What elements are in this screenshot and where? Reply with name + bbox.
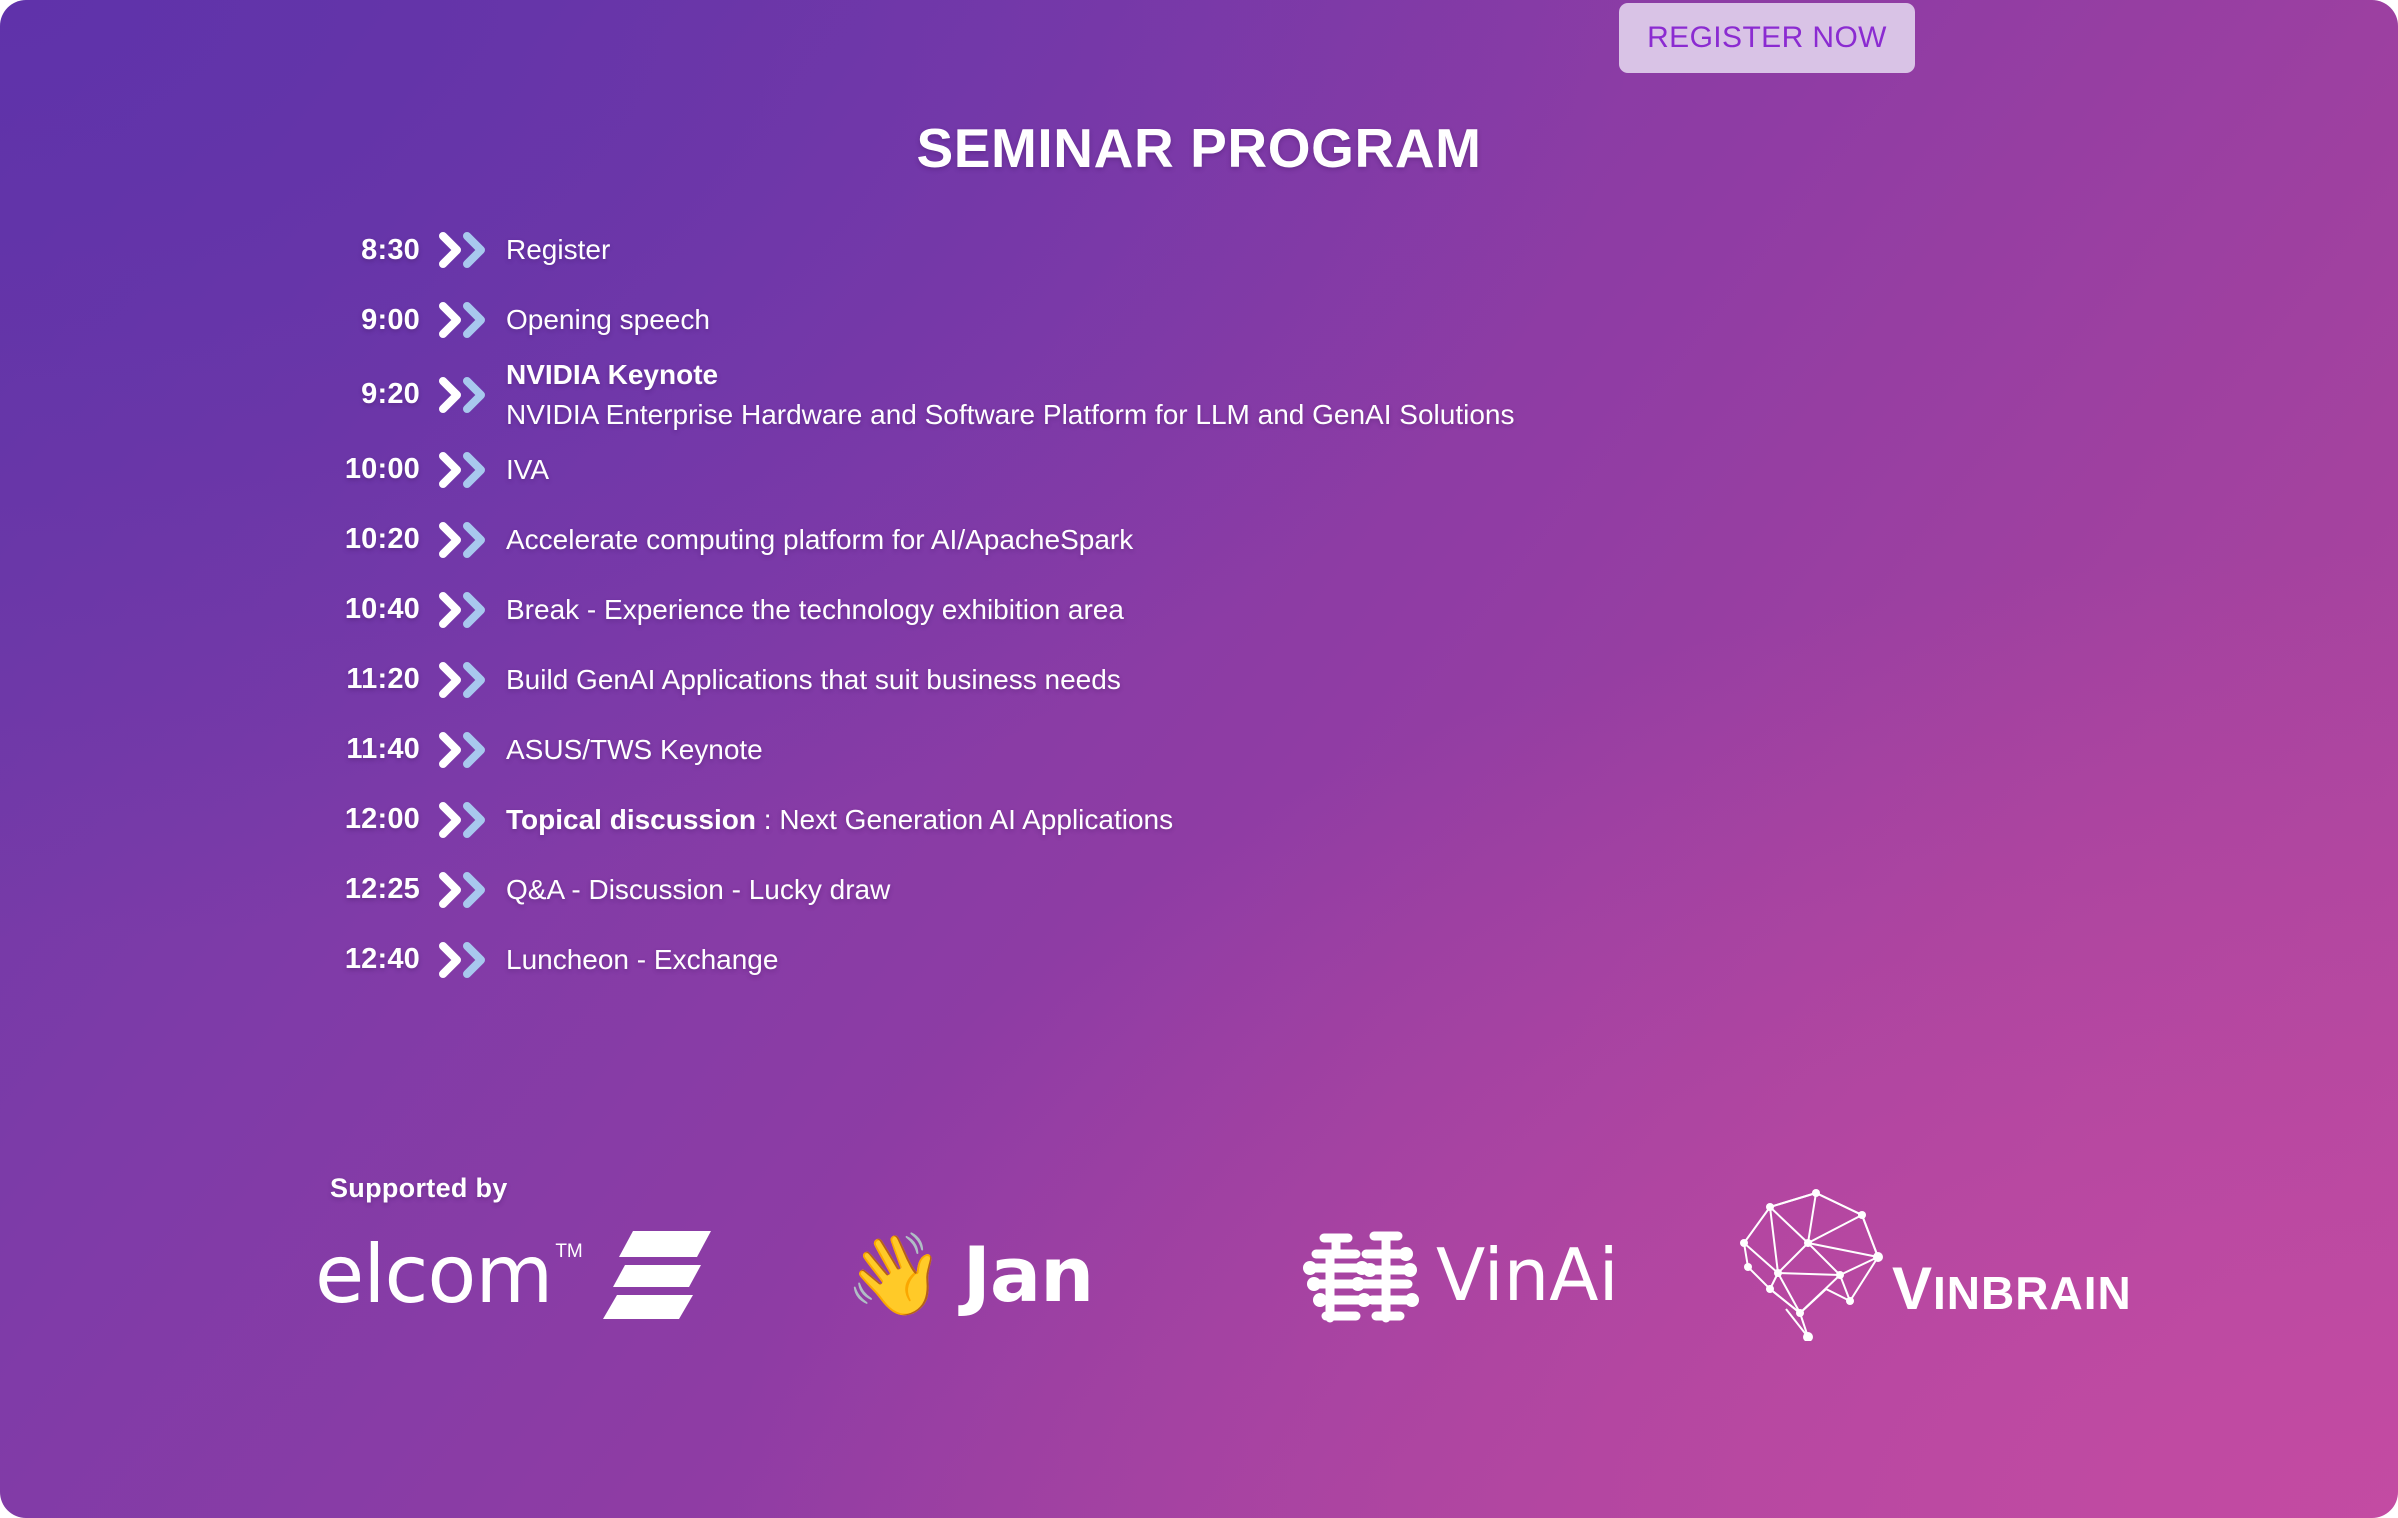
agenda-row-time: 8:30 <box>330 234 420 267</box>
double-chevron-right-icon <box>420 871 506 909</box>
double-chevron-right-icon <box>420 661 506 699</box>
double-chevron-right-icon <box>420 941 506 979</box>
double-chevron-right-icon <box>420 591 506 629</box>
agenda-row-label: IVA <box>506 454 549 485</box>
agenda-row-label: Opening speech <box>506 304 710 335</box>
double-chevron-right-icon <box>420 451 506 489</box>
trademark-icon: TM <box>555 1241 582 1263</box>
agenda-row-body: IVA <box>506 450 2030 490</box>
sponsor-logo-elcom: elcom TM <box>315 1205 715 1345</box>
agenda-row-subtitle: NVIDIA Enterprise Hardware and Software … <box>506 395 2030 435</box>
agenda-row-label: Register <box>506 234 610 265</box>
agenda-row-label: Break - Experience the technology exhibi… <box>506 594 1124 625</box>
agenda-row-body: Register <box>506 230 2030 270</box>
agenda-row-time: 12:00 <box>330 803 420 836</box>
agenda-row: 11:20Build GenAI Applications that suit … <box>330 645 2030 715</box>
agenda-row-time: 10:00 <box>330 453 420 486</box>
agenda-row-body: Break - Experience the technology exhibi… <box>506 590 2030 630</box>
agenda-row-time: 9:00 <box>330 304 420 337</box>
agenda-row: 10:00IVA <box>330 435 2030 505</box>
agenda-row-body: Topical discussion : Next Generation AI … <box>506 800 2030 840</box>
agenda-row-time: 11:20 <box>330 663 420 696</box>
double-chevron-right-icon <box>420 376 506 414</box>
sponsor-logo-jan: 👋 Jan <box>845 1205 1093 1345</box>
agenda-row-time: 9:20 <box>330 378 420 411</box>
circuit-nodes-icon <box>1300 1218 1422 1333</box>
agenda-row: 12:00Topical discussion : Next Generatio… <box>330 785 2030 855</box>
agenda-row-body: Luncheon - Exchange <box>506 940 2030 980</box>
agenda-row-body: ASUS/TWS Keynote <box>506 730 2030 770</box>
agenda-row: 12:40Luncheon - Exchange <box>330 925 2030 995</box>
agenda-row: 10:40Break - Experience the technology e… <box>330 575 2030 645</box>
agenda-row-body: Accelerate computing platform for AI/Apa… <box>506 520 2030 560</box>
agenda-row-time: 10:40 <box>330 593 420 626</box>
agenda-row-label: Q&A - Discussion - Lucky draw <box>506 874 890 905</box>
agenda-row-body: Opening speech <box>506 300 2030 340</box>
supported-by-label: Supported by <box>330 1173 508 1204</box>
page-title: SEMINAR PROGRAM <box>0 116 2398 180</box>
agenda-list: 8:30Register9:00Opening speech9:20NVIDIA… <box>330 215 2030 995</box>
agenda-row-label: Build GenAI Applications that suit busin… <box>506 664 1121 695</box>
agenda-row-time: 11:40 <box>330 733 420 766</box>
agenda-row-body: NVIDIA KeynoteNVIDIA Enterprise Hardware… <box>506 355 2030 435</box>
sponsor-logo-vinai: VinAi <box>1300 1205 1619 1345</box>
agenda-row-label: Accelerate computing platform for AI/Apa… <box>506 524 1133 555</box>
agenda-row: 9:00Opening speech <box>330 285 2030 355</box>
sponsor-logo-vinbrain: VINBRAIN <box>1730 1193 2132 1333</box>
agenda-row-body: Build GenAI Applications that suit busin… <box>506 660 2030 700</box>
sponsor-logo-strip: elcom TM 👋 Jan <box>300 1205 2120 1345</box>
seminar-program-slide: REGISTER NOW SEMINAR PROGRAM 8:30Registe… <box>0 0 2398 1518</box>
double-chevron-right-icon <box>420 801 506 839</box>
jan-wordmark: Jan <box>963 1237 1094 1313</box>
agenda-row-strong-prefix: Topical discussion <box>506 804 756 835</box>
agenda-row: 12:25Q&A - Discussion - Lucky draw <box>330 855 2030 925</box>
agenda-row-time: 12:25 <box>330 873 420 906</box>
vinai-wordmark: VinAi <box>1436 1239 1619 1311</box>
agenda-row: 11:40ASUS/TWS Keynote <box>330 715 2030 785</box>
agenda-row-time: 10:20 <box>330 523 420 556</box>
waving-hand-icon: 👋 <box>845 1235 945 1315</box>
agenda-row-label: Luncheon - Exchange <box>506 944 778 975</box>
double-chevron-right-icon <box>420 731 506 769</box>
vinbrain-rest: INBRAIN <box>1933 1267 2132 1319</box>
register-now-button[interactable]: REGISTER NOW <box>1619 3 1915 73</box>
agenda-row-label: : Next Generation AI Applications <box>756 804 1173 835</box>
vinbrain-wordmark: VINBRAIN <box>1892 1259 2132 1319</box>
agenda-row: 9:20NVIDIA KeynoteNVIDIA Enterprise Hard… <box>330 355 2030 435</box>
agenda-row: 8:30Register <box>330 215 2030 285</box>
vinbrain-initial: V <box>1892 1255 1933 1322</box>
agenda-row-label: ASUS/TWS Keynote <box>506 734 763 765</box>
agenda-row: 10:20Accelerate computing platform for A… <box>330 505 2030 575</box>
double-chevron-right-icon <box>420 521 506 559</box>
slanted-e-mark-icon <box>599 1223 715 1328</box>
agenda-row-time: 12:40 <box>330 943 420 976</box>
agenda-row-heading: NVIDIA Keynote <box>506 355 2030 395</box>
double-chevron-right-icon <box>420 301 506 339</box>
double-chevron-right-icon <box>420 231 506 269</box>
elcom-wordmark: elcom <box>315 1235 552 1315</box>
agenda-row-body: Q&A - Discussion - Lucky draw <box>506 870 2030 910</box>
